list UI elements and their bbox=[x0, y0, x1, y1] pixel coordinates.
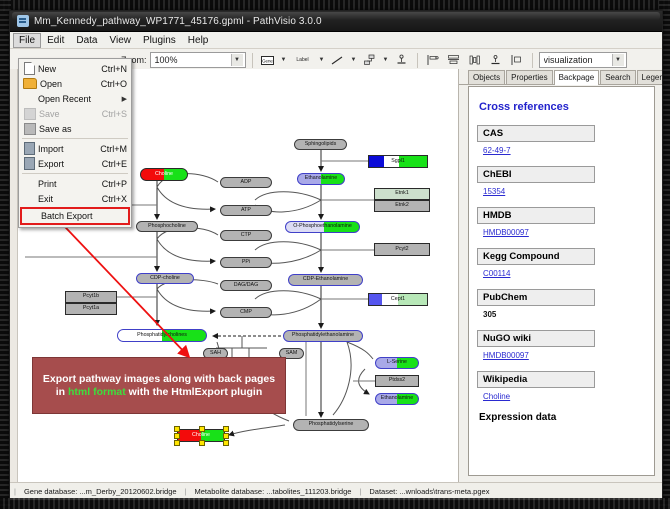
new-document-icon bbox=[24, 62, 35, 75]
svg-text:Gene: Gene bbox=[262, 58, 273, 63]
menu-item-save-as[interactable]: Save as bbox=[19, 121, 131, 136]
xref-value-wikipedia[interactable]: Choline bbox=[483, 392, 646, 401]
xref-source-cas: CAS bbox=[477, 125, 595, 142]
selection-handle-n[interactable] bbox=[199, 426, 205, 432]
menu-item-open-recent[interactable]: Open Recent ▶ bbox=[19, 91, 131, 106]
datanode-tool-icon[interactable]: Gene bbox=[259, 51, 277, 69]
menu-item-no-icon bbox=[21, 92, 35, 105]
node-phosphatidylethanolamine[interactable]: Phosphatidylethanolamine bbox=[283, 330, 363, 342]
annotation-text-after: with the HtmlExport plugin bbox=[126, 386, 263, 398]
node-sphingolipids[interactable]: Sphingolipids bbox=[294, 139, 347, 150]
menu-item-no-icon bbox=[24, 210, 38, 223]
expression-data-heading: Expression data bbox=[479, 412, 646, 423]
menu-view[interactable]: View bbox=[103, 33, 137, 48]
node-label: CTP bbox=[241, 233, 252, 238]
status-gene-database: Gene database: ...m_Derby_20120602.bridg… bbox=[20, 487, 181, 496]
menu-item-label: Export bbox=[38, 159, 102, 169]
line-tool-icon[interactable] bbox=[329, 51, 347, 69]
label-dropdown-icon[interactable]: ▼ bbox=[318, 57, 326, 63]
node-ethanolamine[interactable]: Ethanolamine bbox=[297, 173, 345, 185]
menu-item-accel: Ctrl+N bbox=[101, 64, 127, 74]
node-label: Ptdss2 bbox=[389, 378, 405, 383]
menu-item-export[interactable]: Export Ctrl+E bbox=[19, 156, 131, 171]
menu-item-label: Print bbox=[38, 179, 102, 189]
align-middle-icon[interactable] bbox=[466, 51, 484, 69]
pathvisio-icon bbox=[17, 15, 29, 27]
node-label: O-Phosphoethanolamine bbox=[293, 224, 352, 229]
node-label: Etnk1 bbox=[395, 191, 409, 196]
label-tool-icon[interactable]: Label bbox=[291, 51, 315, 69]
export-icon bbox=[24, 157, 35, 170]
menu-item-no-icon bbox=[21, 192, 35, 205]
align-left-icon[interactable] bbox=[424, 51, 442, 69]
node-label: Sgpl1 bbox=[391, 159, 405, 164]
node-label: Cept1 bbox=[391, 297, 405, 302]
node-label: Pcyt1a bbox=[83, 306, 99, 311]
zoom-value: 100% bbox=[155, 55, 231, 65]
menu-item-print[interactable]: Print Ctrl+P bbox=[19, 176, 131, 191]
menu-item-no-icon bbox=[21, 177, 35, 190]
menu-item-open[interactable]: Open Ctrl+O bbox=[19, 76, 131, 91]
menu-item-accel: Ctrl+S bbox=[102, 109, 127, 119]
node-label: Pcyt2 bbox=[395, 247, 408, 252]
statusbar-divider-1: | bbox=[181, 487, 191, 496]
node-label: Etnk2 bbox=[395, 203, 409, 208]
menu-item-save: Save Ctrl+S bbox=[19, 106, 131, 121]
menu-item-label: Open bbox=[40, 79, 101, 89]
menu-item-accel: Ctrl+X bbox=[102, 194, 127, 204]
node-label: ATP bbox=[241, 208, 251, 213]
pathvisio-window: Mm_Kennedy_pathway_WP1771_45176.gpml - P… bbox=[9, 10, 663, 501]
menu-item-label: Save as bbox=[39, 124, 127, 134]
backpage-content: Cross references CAS 62-49-7 ChEBI 15354… bbox=[468, 86, 655, 476]
selection-handle-w[interactable] bbox=[174, 433, 180, 439]
node-cdp-ethanolamine[interactable]: CDP-Ethanolamine bbox=[288, 274, 363, 286]
interaction-tool-icon[interactable] bbox=[361, 51, 379, 69]
node-label: Sphingolipids bbox=[305, 142, 337, 147]
xref-value-chebi[interactable]: 15354 bbox=[483, 187, 646, 196]
menu-item-import[interactable]: Import Ctrl+M bbox=[19, 141, 131, 156]
side-panel-tabs[interactable]: Objects Properties Backpage Search Legen… bbox=[459, 69, 662, 85]
menu-item-label: Import bbox=[38, 144, 100, 154]
menu-item-label: Open Recent bbox=[38, 94, 122, 104]
xref-source-chebi: ChEBI bbox=[477, 166, 595, 183]
menu-item-accel: Ctrl+O bbox=[101, 79, 127, 89]
tab-properties[interactable]: Properties bbox=[506, 70, 552, 84]
node-cept1[interactable]: Cept1 bbox=[368, 293, 428, 306]
node-pcyt1a[interactable]: Pcyt1a bbox=[65, 303, 117, 315]
menu-item-label: New bbox=[38, 64, 101, 74]
annotation-text: Export pathway images along with back pa… bbox=[33, 373, 285, 399]
datanode-dropdown-icon[interactable]: ▼ bbox=[280, 57, 288, 63]
toolbar-divider-3 bbox=[532, 53, 533, 68]
stack-icon[interactable] bbox=[487, 51, 505, 69]
selection-handle-ne[interactable] bbox=[223, 426, 229, 432]
node-label: Phosphatidylcholines bbox=[137, 333, 187, 338]
node-etnk1[interactable]: Etnk1 bbox=[374, 188, 430, 200]
node-label: Choline bbox=[192, 433, 210, 438]
tab-backpage[interactable]: Backpage bbox=[554, 70, 600, 85]
node-phosphatidylcholines[interactable]: Phosphatidylcholines bbox=[117, 329, 207, 342]
tab-search[interactable]: Search bbox=[600, 70, 635, 84]
visualization-chevron-down-icon[interactable]: ▼ bbox=[612, 54, 624, 66]
node-dag-dag[interactable]: DAG/DAG bbox=[220, 280, 272, 291]
xref-value-cas[interactable]: 62-49-7 bbox=[483, 146, 646, 155]
node-label: SAH bbox=[210, 351, 221, 356]
file-menu-dropdown[interactable]: New Ctrl+N Open Ctrl+O Open Recent ▶ Sav… bbox=[18, 58, 132, 228]
node-phosphocholine[interactable]: Phosphocholine bbox=[136, 221, 198, 232]
node-adp[interactable]: ADP bbox=[220, 177, 272, 188]
anchor-tool-icon[interactable] bbox=[393, 51, 411, 69]
zoom-combo[interactable]: 100% ▼ bbox=[150, 52, 246, 68]
node-label: PPi bbox=[242, 260, 250, 265]
save-icon bbox=[24, 123, 36, 135]
window-titlebar: Mm_Kennedy_pathway_WP1771_45176.gpml - P… bbox=[10, 11, 662, 32]
node-label: CDP-Ethanolamine bbox=[303, 277, 348, 282]
node-label: Pcyt1b bbox=[83, 294, 99, 299]
menu-file[interactable]: File bbox=[13, 33, 41, 48]
node-label: CDP-choline bbox=[150, 276, 180, 281]
menu-separator-2 bbox=[22, 173, 128, 174]
node-cmp[interactable]: CMP bbox=[220, 307, 272, 318]
xref-source-kegg: Kegg Compound bbox=[477, 248, 595, 265]
menu-help[interactable]: Help bbox=[182, 33, 215, 48]
xref-source-nugo: NuGO wiki bbox=[477, 330, 595, 347]
node-label: Choline bbox=[155, 172, 173, 177]
node-label: Phosphatidylethanolamine bbox=[292, 333, 354, 338]
align-center-icon[interactable] bbox=[445, 51, 463, 69]
side-panel: Objects Properties Backpage Search Legen… bbox=[459, 69, 662, 482]
interaction-dropdown-icon[interactable]: ▼ bbox=[382, 57, 390, 63]
menu-item-new[interactable]: New Ctrl+N bbox=[19, 61, 131, 76]
xref-value-pubchem: 305 bbox=[483, 310, 646, 319]
menubar[interactable]: File Edit Data View Plugins Help bbox=[10, 32, 662, 49]
node-label: L-Serine bbox=[387, 360, 407, 365]
window-title: Mm_Kennedy_pathway_WP1771_45176.gpml - P… bbox=[34, 16, 322, 27]
tab-objects[interactable]: Objects bbox=[468, 70, 505, 84]
toolbar-divider-1 bbox=[252, 53, 253, 68]
node-cdp-choline[interactable]: CDP-choline bbox=[136, 273, 194, 284]
menu-item-accel: Ctrl+P bbox=[102, 179, 127, 189]
xref-value-nugo[interactable]: HMDB00097 bbox=[483, 351, 646, 360]
node-sgpl1[interactable]: Sgpl1 bbox=[368, 155, 428, 168]
node-choline[interactable]: Choline bbox=[140, 168, 188, 181]
save-disabled-icon bbox=[24, 108, 36, 120]
selection-handle-se[interactable] bbox=[223, 440, 229, 446]
import-icon bbox=[24, 142, 35, 155]
menu-data[interactable]: Data bbox=[70, 33, 103, 48]
node-pcyt1b[interactable]: Pcyt1b bbox=[65, 291, 117, 303]
menu-item-label: Save bbox=[39, 109, 102, 119]
node-atp[interactable]: ATP bbox=[220, 205, 272, 216]
distribute-icon[interactable] bbox=[508, 51, 526, 69]
annotation-highlight: html format bbox=[68, 386, 126, 398]
submenu-arrow-icon: ▶ bbox=[122, 95, 127, 103]
xref-source-pubchem: PubChem bbox=[477, 289, 595, 306]
statusbar-divider-2: | bbox=[355, 487, 365, 496]
menu-separator-1 bbox=[22, 138, 128, 139]
xref-value-kegg[interactable]: C00114 bbox=[483, 269, 646, 278]
status-metabolite-database: Metabolite database: ...tabolites_111203… bbox=[191, 487, 356, 496]
node-etnk2[interactable]: Etnk2 bbox=[374, 200, 430, 212]
desktop-background: Mm_Kennedy_pathway_WP1771_45176.gpml - P… bbox=[0, 0, 670, 509]
annotation-callout: Export pathway images along with back pa… bbox=[32, 357, 286, 414]
node-ptdss2[interactable]: Ptdss2 bbox=[375, 375, 419, 387]
menu-edit[interactable]: Edit bbox=[41, 33, 70, 48]
selection-handle-sw[interactable] bbox=[174, 440, 180, 446]
node-ethanolamine-2[interactable]: Ethanolamine bbox=[375, 393, 419, 405]
node-ppi[interactable]: PPi bbox=[220, 257, 272, 268]
node-ctp[interactable]: CTP bbox=[220, 230, 272, 241]
open-folder-icon bbox=[23, 78, 37, 89]
menu-item-label: Exit bbox=[38, 194, 102, 204]
menu-item-label: Batch Export bbox=[41, 211, 124, 221]
node-phosphatidylserine[interactable]: Phosphatidylserine bbox=[293, 419, 369, 431]
menu-item-accel: Ctrl+M bbox=[100, 144, 127, 154]
node-label: DAG/DAG bbox=[234, 283, 258, 288]
statusbar: | Gene database: ...m_Derby_20120602.bri… bbox=[10, 482, 662, 500]
menu-item-batch-export[interactable]: Batch Export bbox=[20, 207, 130, 225]
status-dataset: Dataset: ...wnloads\trans-meta.pgex bbox=[365, 487, 493, 496]
menu-item-exit[interactable]: Exit Ctrl+X bbox=[19, 191, 131, 206]
node-label: SAM bbox=[286, 351, 297, 356]
node-pcyt2[interactable]: Pcyt2 bbox=[374, 243, 430, 256]
xref-source-wikipedia: Wikipedia bbox=[477, 371, 595, 388]
menu-plugins[interactable]: Plugins bbox=[137, 33, 182, 48]
node-label: Ethanolamine bbox=[305, 176, 337, 181]
cross-references-heading: Cross references bbox=[479, 101, 646, 113]
selection-handle-e[interactable] bbox=[223, 433, 229, 439]
visualization-value: visualization bbox=[544, 55, 612, 65]
chevron-down-icon[interactable]: ▼ bbox=[231, 54, 243, 66]
node-label: CMP bbox=[240, 310, 252, 315]
node-label: Ethanolamine bbox=[381, 396, 413, 401]
line-dropdown-icon[interactable]: ▼ bbox=[350, 57, 358, 63]
selection-handle-s[interactable] bbox=[199, 440, 205, 446]
statusbar-divider-0: | bbox=[10, 487, 20, 496]
selection-handle-nw[interactable] bbox=[174, 426, 180, 432]
xref-source-hmdb: HMDB bbox=[477, 207, 595, 224]
node-label: Phosphatidylserine bbox=[309, 422, 354, 427]
xref-value-hmdb[interactable]: HMDB00097 bbox=[483, 228, 646, 237]
visualization-combo[interactable]: visualization ▼ bbox=[539, 52, 627, 68]
node-label: Phosphocholine bbox=[148, 224, 186, 229]
node-o-phosphoethanolamine[interactable]: O-Phosphoethanolamine bbox=[285, 221, 360, 233]
node-l-serine[interactable]: L-Serine bbox=[375, 357, 419, 369]
node-label: ADP bbox=[241, 180, 252, 185]
toolbar-divider-2 bbox=[417, 53, 418, 68]
tab-legend[interactable]: Legend bbox=[637, 70, 662, 84]
menu-item-accel: Ctrl+E bbox=[102, 159, 127, 169]
